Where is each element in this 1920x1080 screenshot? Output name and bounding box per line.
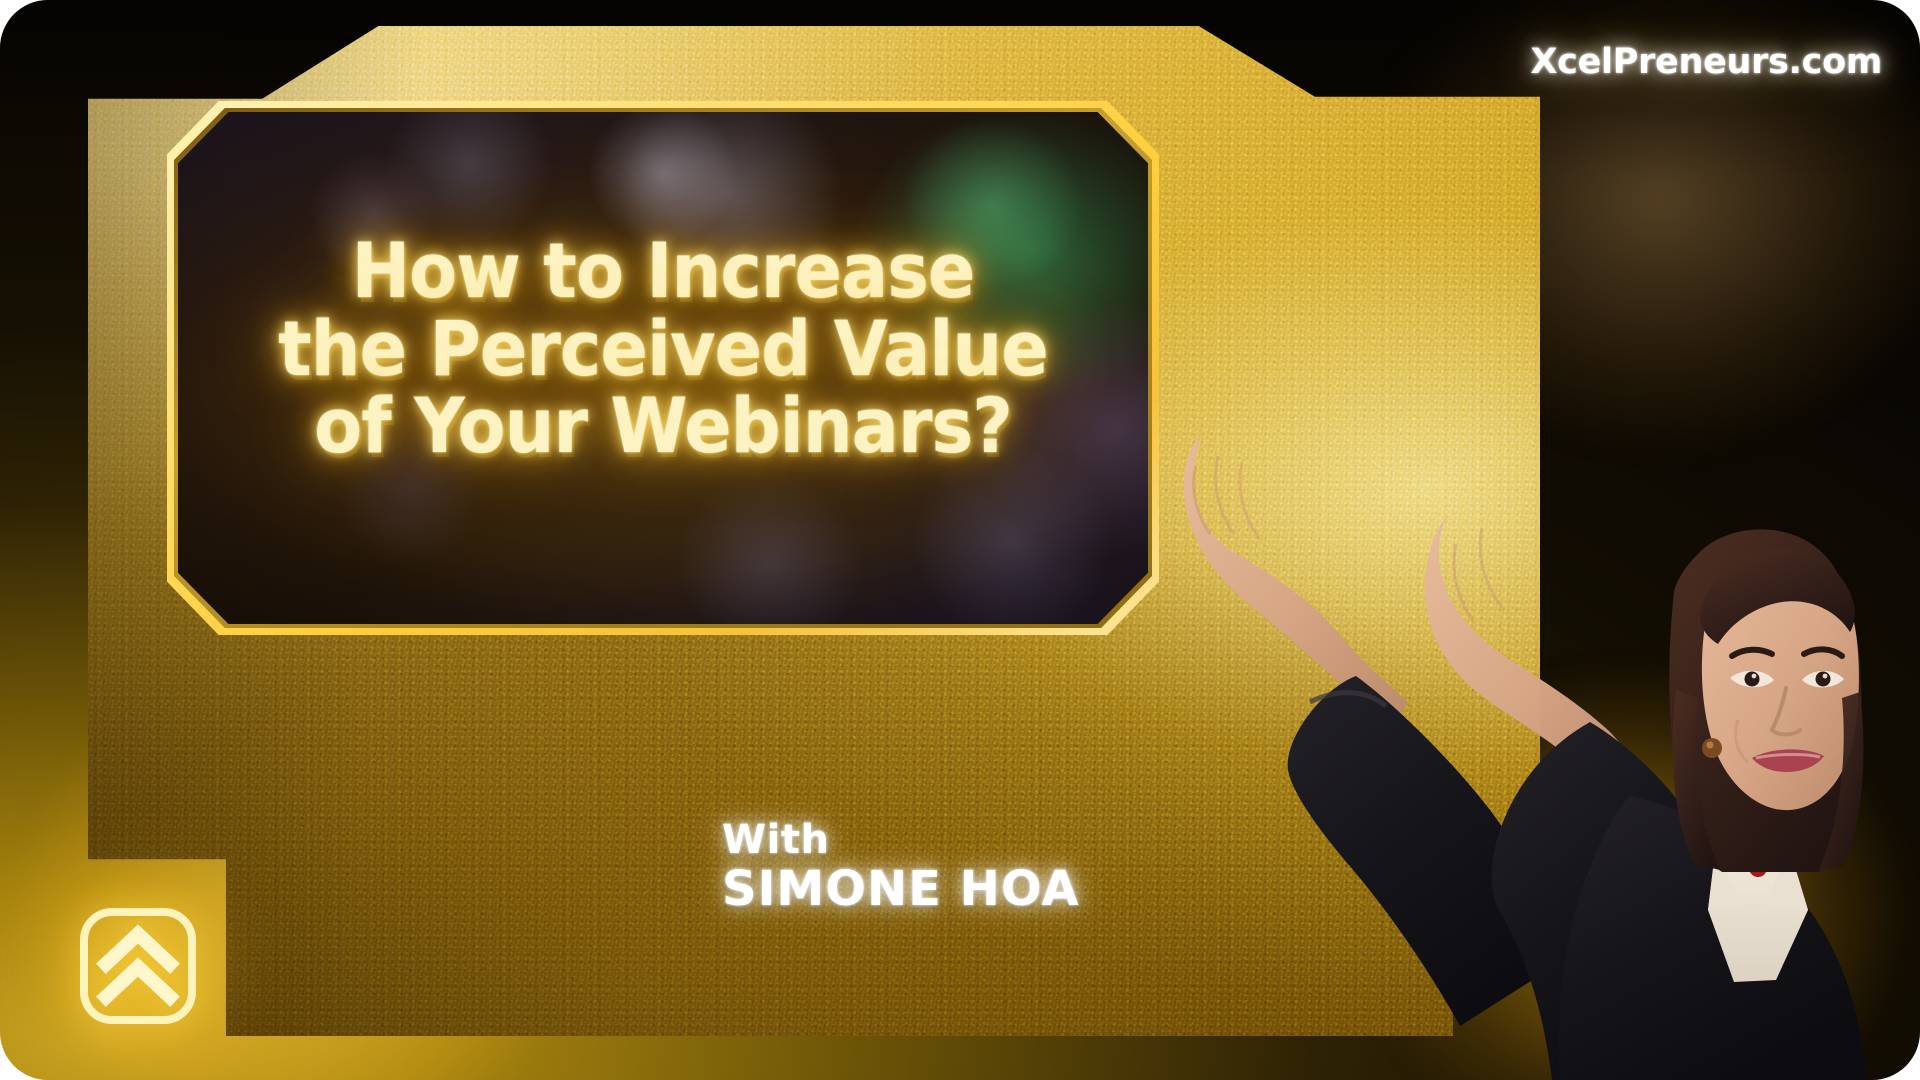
presenter-earring	[1702, 738, 1722, 758]
presenter-bangs	[1700, 548, 1855, 644]
speaker-credit: With SIMONE HOA	[722, 818, 1080, 917]
presenter-jacket	[1559, 796, 1866, 1080]
speaker-name: SIMONE HOA	[722, 863, 1080, 917]
presenter-mouth	[1752, 749, 1824, 772]
double-chevron-up-icon[interactable]	[76, 904, 200, 1028]
chevron-up-bottom	[106, 967, 170, 997]
presenter-neck	[1720, 766, 1802, 857]
presenter-hair-back	[1669, 529, 1861, 872]
presenter-eyes	[1730, 671, 1844, 688]
title-screen: How to Increase the Perceived Value of Y…	[178, 112, 1148, 624]
presenter-hair-strand-left	[1673, 690, 1720, 870]
brand-wordmark: XcelPreneurs.com	[1530, 42, 1882, 82]
presenter-face	[1702, 553, 1859, 810]
screen-bokeh-backdrop	[178, 112, 1148, 624]
presenter-necklace	[1749, 859, 1767, 877]
speaker-with-label: With	[722, 818, 1080, 863]
presenter-blouse	[1708, 828, 1808, 982]
presenter-hair-strand-right	[1818, 692, 1863, 872]
screen-vignette	[178, 112, 1148, 624]
thumbnail-canvas: How to Increase the Perceived Value of Y…	[0, 0, 1920, 1080]
